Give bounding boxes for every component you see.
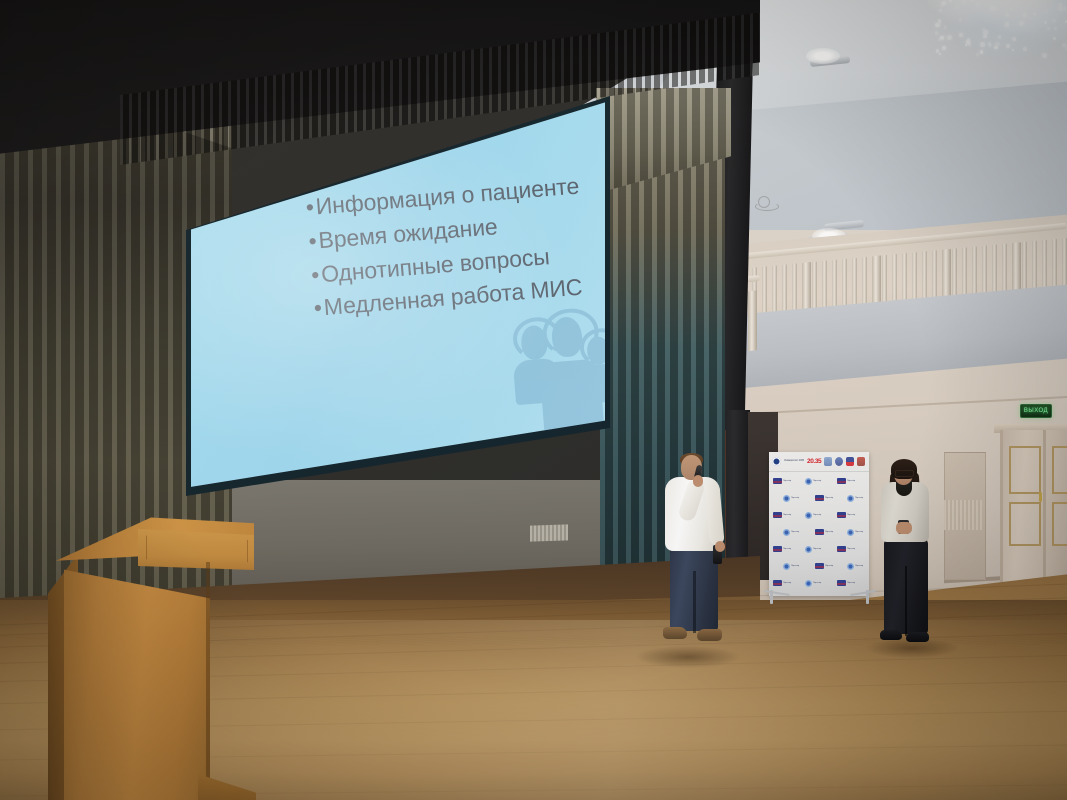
banner-logo: Партнёр: [837, 512, 855, 518]
banner-logo-mark-icon: [847, 563, 854, 570]
co-presenter-shoe-right: [906, 632, 929, 642]
banner-stand: [764, 590, 876, 608]
banner-logo-mark-icon: [815, 495, 824, 501]
presenter-shoe-right: [697, 629, 722, 641]
press-wall-banner: Университет 2035 20.35 ПартнёрПартнёрПар…: [769, 452, 869, 596]
banner-logo: Партнёр: [837, 580, 855, 586]
door-mullion: [1043, 430, 1046, 582]
banner-logo: Партнёр: [773, 478, 791, 484]
banner-logo-caption: Партнёр: [783, 582, 791, 584]
presenter-hand-left: [693, 475, 703, 487]
banner-logo-mark-icon: [805, 580, 812, 587]
banner-logo: Партнёр: [773, 512, 791, 518]
chandelier-crystals: [933, 0, 1067, 66]
banner-logo-mark-icon: [837, 580, 846, 586]
banner-logo-mark-icon: [847, 495, 854, 502]
banner-logo-mark-icon: [837, 512, 846, 518]
banner-partner-mark-1-icon: [824, 457, 832, 466]
banner-logo-caption: Партнёр: [813, 480, 821, 482]
banner-logo-mark-icon: [805, 546, 812, 553]
banner-logo-caption: Партнёр: [847, 480, 855, 482]
banner-logo-caption: Партнёр: [783, 480, 791, 482]
co-presenter-hands: [896, 522, 912, 534]
banner-logo: Партнёр: [773, 546, 791, 552]
banner-partner-mark-2-icon: [835, 457, 843, 466]
banner-logo-grid: ПартнёрПартнёрПартнёрПартнёрПартнёрПартн…: [769, 473, 869, 596]
co-presenter-shoe-left: [880, 630, 902, 640]
door-handle[interactable]: [1039, 492, 1042, 502]
banner-logo: Партнёр: [837, 478, 855, 484]
banner-post-left: [770, 590, 773, 604]
banner-logo-caption: Партнёр: [791, 531, 799, 533]
presenter: [655, 455, 735, 645]
lectern-corner-edge: [206, 562, 210, 800]
presenter-hand-right: [715, 541, 725, 552]
banner-logo-caption: Партнёр: [855, 565, 863, 567]
banner-logo-caption: Партнёр: [847, 548, 855, 550]
banner-logo-caption: Партнёр: [791, 497, 799, 499]
banner-logo-mark-icon: [773, 478, 782, 484]
radiator: [944, 500, 982, 530]
banner-logo-caption: Партнёр: [791, 565, 799, 567]
exit-door[interactable]: [1000, 430, 1067, 582]
co-presenter: [872, 462, 944, 646]
banner-post-right: [866, 590, 869, 604]
banner-partner-mark-4-icon: [857, 457, 865, 466]
co-presenter-leg-separation: [905, 566, 907, 636]
banner-brand-number: 20.35: [807, 458, 821, 465]
banner-logo-mark-icon: [815, 563, 824, 569]
slide-content: Проблема Информация о пациенте Время ожи…: [191, 100, 605, 489]
baluster-left: [748, 290, 757, 351]
banner-logo: Партнёр: [773, 580, 791, 586]
banner-logo: Партнёр: [805, 546, 821, 553]
lectern-front-panel: [64, 560, 210, 800]
presenter-shadow: [636, 646, 740, 668]
stage-vent-grille: [530, 524, 568, 541]
banner-logo: Партнёр: [783, 495, 799, 502]
glasses-icon: [895, 470, 914, 477]
banner-logo-mark-icon: [837, 546, 846, 552]
exit-sign: ВЫХОД: [1020, 404, 1052, 418]
banner-logo: Партнёр: [847, 529, 863, 536]
banner-partner-mark-3-icon: [846, 457, 854, 466]
slide-operators-icon: [505, 304, 605, 441]
banner-logo-caption: Партнёр: [825, 565, 833, 567]
banner-header: Университет 2035 20.35: [769, 452, 869, 472]
lectern[interactable]: [48, 516, 254, 800]
banner-logo: Партнёр: [847, 495, 863, 502]
photo-scene: ВЫХОД Проблема Информация о пациенте Вре…: [0, 0, 1067, 800]
banner-logo: Партнёр: [805, 580, 821, 587]
banner-logo-mark-icon: [783, 563, 790, 570]
banner-logo-mark-icon: [773, 546, 782, 552]
banner-logo-caption: Партнёр: [825, 531, 833, 533]
ceiling-smoke-detector-icon: [758, 196, 770, 208]
presenter-leg-separation: [693, 571, 696, 633]
banner-logo-caption: Партнёр: [813, 582, 821, 584]
banner-logo-caption: Партнёр: [847, 582, 855, 584]
banner-logo: Партнёр: [815, 495, 833, 501]
banner-logo-mark-icon: [783, 495, 790, 502]
exit-sign-label: ВЫХОД: [1024, 408, 1048, 414]
banner-logo: Партнёр: [805, 512, 821, 519]
banner-leg-left: [764, 590, 790, 596]
banner-logo-mark-icon: [815, 529, 824, 535]
banner-logo: Партнёр: [805, 478, 821, 485]
banner-logo-mark-icon: [805, 478, 812, 485]
banner-logo: Партнёр: [783, 563, 799, 570]
banner-logo-caption: Партнёр: [783, 548, 791, 550]
door-panel-1: [1009, 446, 1041, 494]
banner-institution-logo-icon: [772, 457, 781, 466]
door-panel-2: [1009, 502, 1041, 546]
banner-logo-caption: Партнёр: [855, 531, 863, 533]
banner-logo: Партнёр: [815, 529, 833, 535]
banner-logo: Партнёр: [815, 563, 833, 569]
banner-logo: Партнёр: [837, 546, 855, 552]
banner-logo-caption: Партнёр: [783, 514, 791, 516]
banner-logo-mark-icon: [837, 478, 846, 484]
spotlight-right: [806, 48, 840, 64]
lectern-base: [198, 774, 256, 800]
slide-bullet-list: Информация о пациенте Время ожидание Одн…: [265, 163, 605, 329]
banner-logo-caption: Партнёр: [855, 497, 863, 499]
banner-logo-caption: Партнёр: [813, 514, 821, 516]
door-panel-4: [1052, 502, 1067, 546]
door-panel-3: [1052, 446, 1067, 494]
banner-logo: Партнёр: [847, 563, 863, 570]
presenter-shoe-left: [663, 627, 687, 639]
banner-logo-mark-icon: [783, 529, 790, 536]
banner-logo-mark-icon: [773, 512, 782, 518]
banner-logo-mark-icon: [773, 580, 782, 586]
banner-logo-caption: Партнёр: [825, 497, 833, 499]
banner-logo-caption: Партнёр: [847, 514, 855, 516]
banner-logo-mark-icon: [847, 529, 854, 536]
banner-logo-mark-icon: [805, 512, 812, 519]
banner-logo: Партнёр: [783, 529, 799, 536]
banner-logo-caption: Партнёр: [813, 548, 821, 550]
banner-institution-caption: Университет 2035: [784, 460, 804, 463]
